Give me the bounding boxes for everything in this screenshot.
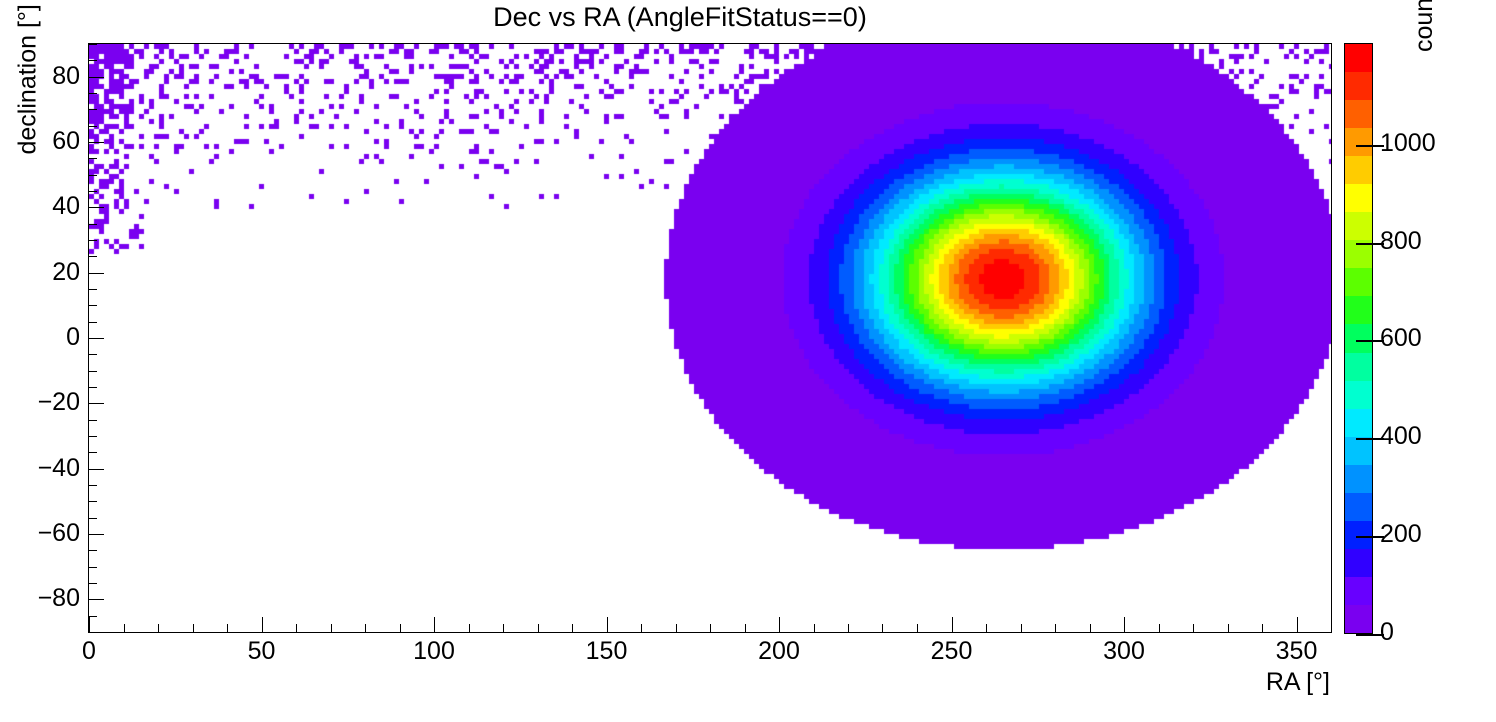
y-tick	[89, 567, 97, 568]
y-tick	[89, 436, 97, 437]
y-tick	[89, 240, 97, 241]
y-tick	[89, 126, 97, 127]
y-tick	[89, 158, 97, 159]
y-tick	[89, 518, 97, 519]
color-band	[1345, 577, 1372, 605]
y-tick	[89, 403, 104, 404]
y-tick	[89, 485, 97, 486]
x-tick-label: 250	[912, 637, 992, 666]
color-scale-tick-label: 0	[1380, 618, 1394, 647]
x-tick	[1262, 624, 1263, 632]
x-tick-label: 100	[394, 637, 474, 666]
x-tick	[296, 624, 297, 632]
color-band	[1345, 493, 1372, 521]
y-tick	[89, 469, 104, 470]
y-tick-label: 0	[10, 323, 80, 352]
x-tick	[262, 617, 263, 632]
y-tick	[89, 534, 104, 535]
y-tick	[89, 109, 97, 110]
x-axis-title: RA [°]	[1180, 668, 1330, 697]
y-tick	[89, 305, 97, 306]
x-tick	[641, 624, 642, 632]
x-tick	[882, 624, 883, 632]
y-tick	[89, 420, 97, 421]
color-band	[1345, 212, 1372, 240]
x-tick	[952, 617, 953, 632]
x-tick	[1090, 624, 1091, 632]
color-band	[1345, 549, 1372, 577]
y-tick-label: 20	[10, 258, 80, 287]
color-scale-tick-label: 800	[1380, 227, 1422, 256]
x-tick	[676, 624, 677, 632]
x-tick	[917, 624, 918, 632]
x-tick	[89, 617, 90, 632]
y-tick	[89, 550, 97, 551]
color-band	[1345, 100, 1372, 128]
color-scale-tick-label: 600	[1380, 324, 1422, 353]
x-tick	[1021, 624, 1022, 632]
x-tick-label: 350	[1257, 637, 1337, 666]
x-tick	[848, 624, 849, 632]
color-band	[1345, 409, 1372, 437]
x-tick	[434, 617, 435, 632]
color-scale-tick-label: 400	[1380, 422, 1422, 451]
color-band	[1345, 268, 1372, 296]
y-tick	[89, 354, 97, 355]
x-tick	[158, 624, 159, 632]
x-tick-label: 0	[49, 637, 129, 666]
color-band	[1345, 381, 1372, 409]
x-tick	[365, 624, 366, 632]
y-tick	[89, 142, 104, 143]
y-tick-label: −60	[10, 519, 80, 548]
x-tick	[400, 624, 401, 632]
y-tick	[89, 599, 104, 600]
y-tick	[89, 207, 104, 208]
color-band	[1345, 353, 1372, 381]
x-tick-label: 50	[222, 637, 302, 666]
x-tick	[1228, 624, 1229, 632]
y-tick	[89, 224, 97, 225]
x-tick	[538, 624, 539, 632]
color-scale-title: count	[1410, 0, 1439, 52]
color-band	[1345, 324, 1372, 352]
y-tick-label: −40	[10, 454, 80, 483]
color-band	[1345, 605, 1372, 633]
y-tick	[89, 256, 97, 257]
y-tick	[89, 175, 97, 176]
y-tick	[89, 273, 104, 274]
y-tick	[89, 289, 97, 290]
x-tick	[607, 617, 608, 632]
y-tick	[89, 616, 97, 617]
color-scale-tick-label: 200	[1380, 520, 1422, 549]
x-tick	[745, 624, 746, 632]
plot-canvas: Dec vs RA (AngleFitStatus==0) 0501001502…	[0, 0, 1496, 722]
x-tick	[1193, 624, 1194, 632]
x-tick	[227, 624, 228, 632]
x-tick	[572, 624, 573, 632]
x-tick-label: 150	[567, 637, 647, 666]
color-band	[1345, 72, 1372, 100]
y-tick	[89, 77, 104, 78]
y-tick-label: −80	[10, 584, 80, 613]
y-tick	[89, 452, 97, 453]
histogram-2d	[89, 44, 1331, 632]
color-scale-bar	[1344, 43, 1373, 634]
x-tick	[1331, 624, 1332, 632]
x-tick	[503, 624, 504, 632]
y-tick	[89, 191, 97, 192]
y-tick	[89, 322, 97, 323]
y-tick-label: −20	[10, 388, 80, 417]
x-tick	[331, 624, 332, 632]
x-tick-label: 300	[1084, 637, 1164, 666]
x-tick	[469, 624, 470, 632]
x-tick	[1159, 624, 1160, 632]
x-tick	[1297, 617, 1298, 632]
y-tick-label: 40	[10, 192, 80, 221]
y-tick	[89, 632, 97, 633]
x-tick	[986, 624, 987, 632]
y-tick	[89, 583, 97, 584]
y-tick	[89, 60, 97, 61]
y-axis-title: declination [°]	[14, 0, 43, 155]
y-tick	[89, 44, 97, 45]
y-tick	[89, 387, 97, 388]
x-tick	[124, 624, 125, 632]
color-band	[1345, 184, 1372, 212]
x-tick	[1055, 624, 1056, 632]
x-tick	[814, 624, 815, 632]
x-tick	[710, 624, 711, 632]
color-scale-tick-label: 1000	[1380, 129, 1436, 158]
color-band	[1345, 156, 1372, 184]
color-band	[1345, 465, 1372, 493]
x-tick-label: 200	[739, 637, 819, 666]
x-tick	[1124, 617, 1125, 632]
x-tick	[779, 617, 780, 632]
y-tick	[89, 371, 97, 372]
color-band	[1345, 128, 1372, 156]
color-band	[1345, 437, 1372, 465]
page-title: Dec vs RA (AngleFitStatus==0)	[0, 2, 1360, 33]
color-band	[1345, 296, 1372, 324]
plot-frame	[88, 43, 1332, 633]
color-band	[1345, 44, 1372, 72]
x-tick	[193, 624, 194, 632]
y-tick	[89, 338, 104, 339]
color-band	[1345, 521, 1372, 549]
y-tick	[89, 93, 97, 94]
y-tick	[89, 501, 97, 502]
